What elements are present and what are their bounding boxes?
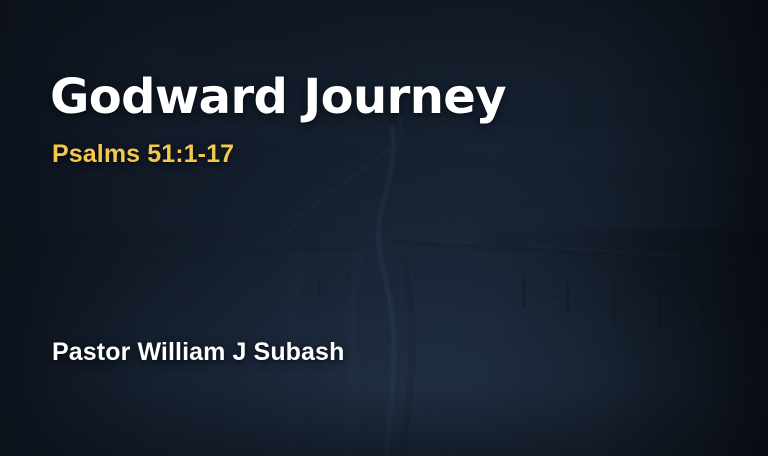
scripture-reference: Psalms 51:1-17 <box>52 140 234 169</box>
slide-content: Godward Journey Psalms 51:1-17 Pastor Wi… <box>0 0 768 456</box>
sermon-title-slide: Godward Journey Psalms 51:1-17 Pastor Wi… <box>0 0 768 456</box>
presenter-name: Pastor William J Subash <box>52 338 344 367</box>
sermon-title: Godward Journey <box>50 72 506 123</box>
